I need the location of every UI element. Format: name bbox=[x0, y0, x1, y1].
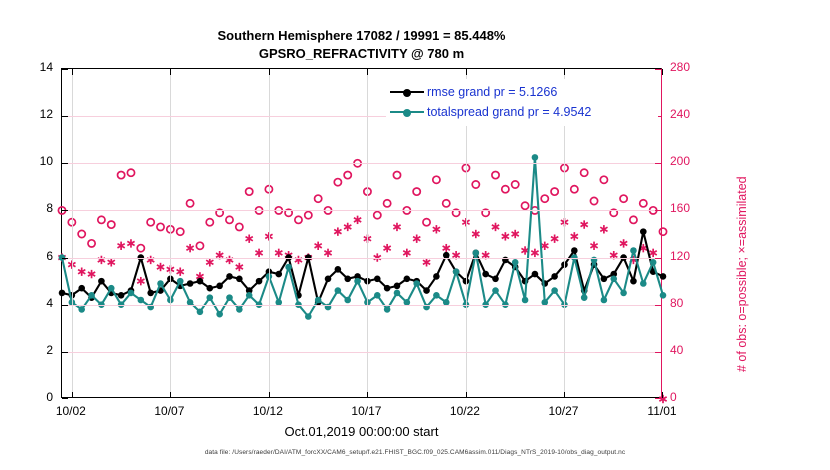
series-point-rmse bbox=[256, 278, 263, 285]
series-point-totalspread bbox=[138, 297, 145, 304]
axis-tick-mark bbox=[655, 210, 661, 211]
axis-tick-mark bbox=[269, 69, 270, 75]
series-point-totalspread bbox=[384, 306, 391, 313]
series-point-totalspread bbox=[650, 259, 657, 266]
obs-possible-marker bbox=[492, 171, 499, 178]
gridline-horizontal bbox=[62, 305, 661, 306]
series-point-totalspread bbox=[620, 290, 627, 297]
obs-possible-marker bbox=[393, 171, 400, 178]
series-point-rmse bbox=[118, 292, 125, 299]
series-point-totalspread bbox=[246, 292, 253, 299]
axis-tick-mark bbox=[72, 69, 73, 75]
series-point-totalspread bbox=[610, 275, 617, 282]
obs-possible-marker bbox=[334, 179, 341, 186]
obs-possible-marker bbox=[433, 176, 440, 183]
obs-possible-marker bbox=[78, 230, 85, 237]
y-tick-label-right: 80 bbox=[670, 296, 712, 310]
series-point-totalspread bbox=[108, 285, 115, 292]
y-tick-label-right: 240 bbox=[670, 107, 712, 121]
legend-marker-totalspread bbox=[390, 105, 424, 119]
series-point-rmse bbox=[226, 273, 233, 280]
gridline-horizontal bbox=[62, 210, 661, 211]
series-point-rmse bbox=[394, 283, 401, 290]
obs-possible-marker bbox=[108, 221, 115, 228]
axis-tick-mark bbox=[62, 398, 68, 399]
obs-possible-marker bbox=[305, 212, 312, 219]
series-point-rmse bbox=[640, 228, 647, 235]
obs-possible-marker bbox=[443, 200, 450, 207]
gridline-vertical bbox=[367, 69, 368, 397]
obs-possible-marker bbox=[521, 202, 528, 209]
series-point-rmse bbox=[275, 271, 282, 278]
chart-title-line-1: Southern Hemisphere 17082 / 19991 = 85.4… bbox=[61, 27, 662, 45]
series-point-totalspread bbox=[433, 292, 440, 299]
series-point-rmse bbox=[601, 275, 608, 282]
y-tick-label-left: 2 bbox=[13, 343, 53, 357]
obs-possible-marker bbox=[88, 240, 95, 247]
obs-possible-marker bbox=[374, 212, 381, 219]
axis-tick-mark bbox=[72, 392, 73, 398]
legend-label-totalspread: totalspread grand pr = 4.9542 bbox=[427, 105, 591, 119]
axis-tick-mark bbox=[170, 69, 171, 75]
series-point-rmse bbox=[492, 275, 499, 282]
obs-possible-marker bbox=[600, 176, 607, 183]
y-tick-label-right: 120 bbox=[670, 249, 712, 263]
series-point-totalspread bbox=[285, 264, 292, 271]
series-point-rmse bbox=[344, 275, 351, 282]
y-tick-label-left: 14 bbox=[13, 60, 53, 74]
series-point-totalspread bbox=[216, 311, 223, 318]
obs-possible-marker bbox=[640, 200, 647, 207]
obs-possible-marker bbox=[581, 169, 588, 176]
series-point-totalspread bbox=[206, 294, 213, 301]
series-point-totalspread bbox=[335, 287, 342, 294]
series-point-totalspread bbox=[344, 297, 351, 304]
obs-possible-marker bbox=[236, 223, 243, 230]
x-tick-label: 10/12 bbox=[238, 404, 298, 418]
obs-possible-marker bbox=[147, 219, 154, 226]
axis-tick-mark bbox=[662, 392, 663, 398]
series-point-rmse bbox=[197, 278, 204, 285]
obs-possible-marker bbox=[571, 186, 578, 193]
axis-tick-mark bbox=[655, 352, 661, 353]
obs-possible-marker bbox=[127, 169, 134, 176]
obs-possible-marker bbox=[423, 219, 430, 226]
obs-possible-marker bbox=[384, 200, 391, 207]
x-tick-label: 10/07 bbox=[139, 404, 199, 418]
chart-title-line-2: GPSRO_REFRACTIVITY @ 780 m bbox=[61, 45, 662, 63]
axis-tick-mark bbox=[269, 392, 270, 398]
series-point-rmse bbox=[433, 273, 440, 280]
series-point-rmse bbox=[571, 247, 578, 254]
axis-tick-mark bbox=[62, 69, 68, 70]
series-point-rmse bbox=[78, 285, 85, 292]
axis-tick-mark bbox=[62, 258, 68, 259]
obs-possible-marker bbox=[659, 228, 666, 235]
series-point-rmse bbox=[325, 275, 332, 282]
obs-possible-marker bbox=[502, 186, 509, 193]
axis-tick-mark bbox=[367, 392, 368, 398]
y-tick-label-right: 200 bbox=[670, 154, 712, 168]
legend-label-rmse: rmse grand pr = 5.1266 bbox=[427, 85, 557, 99]
legend-item-rmse[interactable]: rmse grand pr = 5.1266 bbox=[390, 82, 654, 102]
series-point-totalspread bbox=[660, 292, 667, 299]
series-point-totalspread bbox=[394, 290, 401, 297]
series-point-totalspread bbox=[522, 297, 529, 304]
axis-tick-mark bbox=[466, 69, 467, 75]
obs-possible-marker bbox=[137, 245, 144, 252]
series-point-totalspread bbox=[305, 313, 312, 320]
obs-possible-marker bbox=[118, 171, 125, 178]
series-point-totalspread bbox=[374, 292, 381, 299]
gridline-vertical bbox=[170, 69, 171, 397]
axis-tick-mark bbox=[62, 116, 68, 117]
axis-tick-mark bbox=[466, 392, 467, 398]
chart-figure: Southern Hemisphere 17082 / 19991 = 85.4… bbox=[0, 0, 830, 470]
obs-possible-marker bbox=[551, 188, 558, 195]
x-tick-label: 10/02 bbox=[41, 404, 101, 418]
gridline-vertical bbox=[72, 69, 73, 397]
obs-possible-marker bbox=[512, 181, 519, 188]
y-tick-label-right: 40 bbox=[670, 343, 712, 357]
series-point-rmse bbox=[216, 283, 223, 290]
y-tick-label-left: 6 bbox=[13, 249, 53, 263]
series-point-rmse bbox=[236, 275, 243, 282]
series-point-rmse bbox=[98, 278, 105, 285]
series-point-totalspread bbox=[78, 306, 85, 313]
x-tick-label: 10/27 bbox=[533, 404, 593, 418]
series-point-totalspread bbox=[157, 280, 164, 287]
legend-marker-rmse bbox=[390, 85, 424, 99]
y-tick-label-left: 8 bbox=[13, 201, 53, 215]
obs-possible-marker bbox=[344, 171, 351, 178]
axis-tick-mark bbox=[62, 305, 68, 306]
axis-tick-mark bbox=[564, 392, 565, 398]
series-point-rmse bbox=[482, 271, 489, 278]
axis-tick-mark bbox=[62, 352, 68, 353]
obs-possible-marker bbox=[177, 228, 184, 235]
axis-tick-mark bbox=[655, 258, 661, 259]
series-point-totalspread bbox=[551, 287, 558, 294]
x-axis-label: Oct.01,2019 00:00:00 start bbox=[61, 424, 662, 439]
series-point-totalspread bbox=[512, 259, 519, 266]
series-point-totalspread bbox=[473, 250, 480, 257]
y-tick-label-right: 0 bbox=[670, 390, 712, 404]
series-point-rmse bbox=[630, 278, 637, 285]
axis-tick-mark bbox=[655, 398, 661, 399]
y-tick-label-left: 4 bbox=[13, 296, 53, 310]
chart-legend: rmse grand pr = 5.1266 totalspread grand… bbox=[386, 79, 658, 126]
obs-possible-marker bbox=[157, 223, 164, 230]
series-point-totalspread bbox=[88, 292, 95, 299]
obs-possible-marker bbox=[246, 188, 253, 195]
x-tick-label: 10/17 bbox=[336, 404, 396, 418]
obs-possible-marker bbox=[196, 242, 203, 249]
series-point-totalspread bbox=[601, 297, 608, 304]
obs-possible-marker bbox=[315, 195, 322, 202]
legend-item-totalspread[interactable]: totalspread grand pr = 4.9542 bbox=[390, 102, 654, 122]
series-point-totalspread bbox=[492, 287, 499, 294]
series-point-rmse bbox=[532, 271, 539, 278]
axis-tick-mark bbox=[655, 69, 661, 70]
series-point-rmse bbox=[206, 285, 213, 292]
series-point-rmse bbox=[551, 273, 558, 280]
series-point-rmse bbox=[335, 266, 342, 273]
series-point-totalspread bbox=[453, 268, 460, 275]
series-point-rmse bbox=[187, 280, 194, 287]
x-tick-label: 10/22 bbox=[435, 404, 495, 418]
series-point-totalspread bbox=[532, 154, 539, 161]
series-point-totalspread bbox=[236, 306, 243, 313]
y-tick-label-left: 12 bbox=[13, 107, 53, 121]
obs-possible-marker bbox=[413, 188, 420, 195]
series-point-totalspread bbox=[640, 280, 647, 287]
y-tick-label-left: 10 bbox=[13, 154, 53, 168]
obs-possible-marker bbox=[472, 181, 479, 188]
obs-possible-marker bbox=[590, 197, 597, 204]
series-point-rmse bbox=[59, 290, 66, 297]
axis-tick-mark bbox=[367, 69, 368, 75]
obs-possible-marker bbox=[206, 219, 213, 226]
obs-possible-marker bbox=[226, 216, 233, 223]
axis-tick-mark bbox=[62, 210, 68, 211]
gridline-vertical bbox=[269, 69, 270, 397]
series-point-totalspread bbox=[197, 308, 204, 315]
axis-tick-mark bbox=[655, 163, 661, 164]
series-point-totalspread bbox=[413, 280, 420, 287]
axis-tick-mark bbox=[662, 69, 663, 75]
series-point-totalspread bbox=[177, 278, 184, 285]
obs-possible-marker bbox=[186, 200, 193, 207]
chart-title: Southern Hemisphere 17082 / 19991 = 85.4… bbox=[61, 27, 662, 63]
series-point-totalspread bbox=[630, 247, 637, 254]
series-point-totalspread bbox=[315, 297, 322, 304]
axis-tick-mark bbox=[655, 305, 661, 306]
y-tick-label-right: 280 bbox=[670, 60, 712, 74]
data-file-note: data file: /Users/raeder/DAI/ATM_forcXX/… bbox=[0, 449, 830, 456]
y-tick-label-right: 160 bbox=[670, 201, 712, 215]
series-point-totalspread bbox=[128, 290, 135, 297]
gridline-horizontal bbox=[62, 258, 661, 259]
obs-possible-marker bbox=[630, 216, 637, 223]
series-point-totalspread bbox=[354, 278, 361, 285]
series-point-rmse bbox=[404, 275, 411, 282]
x-tick-label: 11/01 bbox=[632, 404, 692, 418]
series-point-rmse bbox=[384, 285, 391, 292]
obs-possible-marker bbox=[295, 216, 302, 223]
axis-tick-mark bbox=[170, 392, 171, 398]
series-point-rmse bbox=[423, 287, 430, 294]
series-point-totalspread bbox=[581, 294, 588, 301]
obs-possible-marker bbox=[541, 195, 548, 202]
series-point-rmse bbox=[147, 290, 154, 297]
axis-tick-mark bbox=[564, 69, 565, 75]
series-point-rmse bbox=[374, 275, 381, 282]
y-tick-label-left: 0 bbox=[13, 390, 53, 404]
series-point-rmse bbox=[660, 273, 667, 280]
axis-tick-mark bbox=[62, 163, 68, 164]
obs-possible-marker bbox=[98, 216, 105, 223]
y-axis-right-label: # of obs: o=possible; ×=assimilated bbox=[735, 176, 749, 372]
series-point-totalspread bbox=[226, 294, 233, 301]
gridline-horizontal bbox=[62, 352, 661, 353]
gridline-horizontal bbox=[62, 163, 661, 164]
obs-possible-marker bbox=[620, 195, 627, 202]
